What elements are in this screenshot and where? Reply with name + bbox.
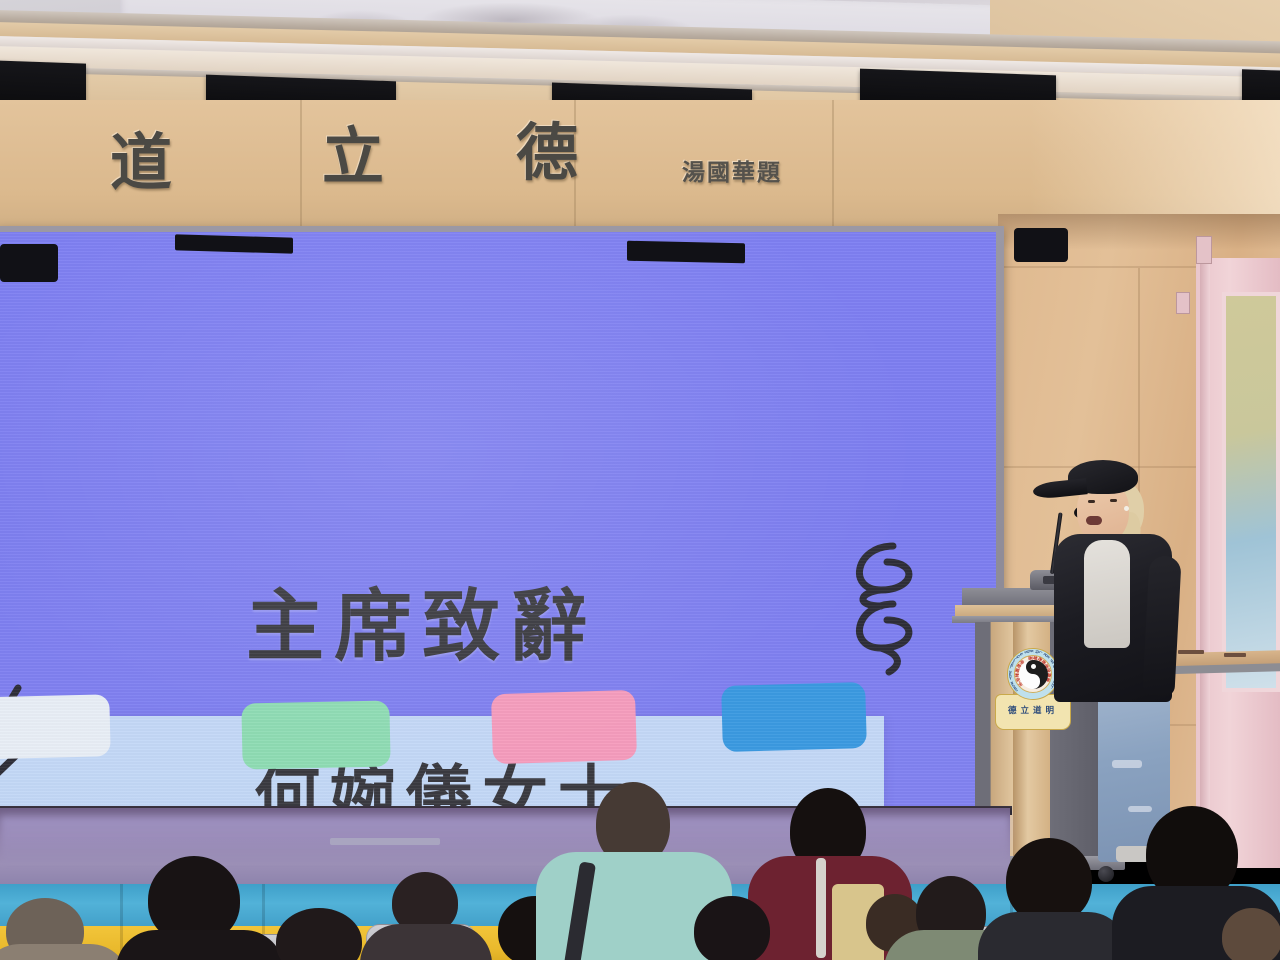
- chip-green: [241, 700, 390, 769]
- calligraphy-char-li: 立: [322, 126, 384, 188]
- emblem-motto: 德立道明: [995, 704, 1071, 716]
- calligraphy-signature: 湯國華題: [682, 160, 782, 186]
- yin-dot-white: [1031, 664, 1036, 669]
- stage-monitor-speaker: [627, 241, 745, 263]
- stage-object: [330, 838, 440, 845]
- led-screen: 主席致辭 何婉儀女士 第十五屆家長教師會主席: [0, 232, 996, 810]
- chip-blue: [721, 682, 867, 752]
- chip-white: [0, 694, 111, 760]
- speaker-eye: [1110, 499, 1117, 502]
- audience-shoulders: [116, 930, 284, 960]
- door-hinge: [1196, 236, 1212, 264]
- audience-head: [694, 896, 770, 960]
- calligraphy-char-de: 德: [516, 122, 578, 184]
- jean-rip: [1112, 760, 1142, 768]
- speaker-mouth: [1086, 516, 1102, 525]
- door-edge: [1200, 262, 1210, 862]
- wall-seam: [832, 100, 834, 235]
- door-hinge: [1176, 292, 1190, 314]
- jean-rip: [1128, 806, 1152, 812]
- calligraphy-char-dao: 道: [110, 132, 172, 194]
- wall-seam: [300, 100, 302, 235]
- door-window: [1222, 292, 1280, 692]
- chip-pink: [491, 690, 637, 764]
- table-object: [1178, 650, 1204, 654]
- yin-yang-icon: [1019, 660, 1048, 689]
- hall-photo-scene: 道 立 德 湯國華題 主席致辭 何婉儀女士 第十五屆家長教師會主席: [0, 0, 1280, 960]
- wall-trim-line: [998, 266, 1208, 268]
- podium-caster: [1098, 866, 1114, 882]
- stage-light-fixture: [1014, 228, 1068, 262]
- audience-shoulders: [360, 924, 492, 960]
- audience-head: [1222, 908, 1280, 960]
- stage-light-fixture: [0, 244, 58, 282]
- speaker-top: [1084, 540, 1130, 648]
- yin-dot-black: [1031, 679, 1036, 684]
- table-object: [1224, 653, 1246, 657]
- speaker-earring: [1124, 506, 1129, 511]
- slide-title: 主席致辭: [246, 584, 598, 670]
- jacket-zip: [816, 858, 826, 958]
- speaker-eye: [1088, 500, 1095, 503]
- stage-monitor-speaker: [175, 234, 293, 253]
- audience-shoulders: [978, 912, 1128, 960]
- spiral-decoration-icon: [841, 532, 951, 682]
